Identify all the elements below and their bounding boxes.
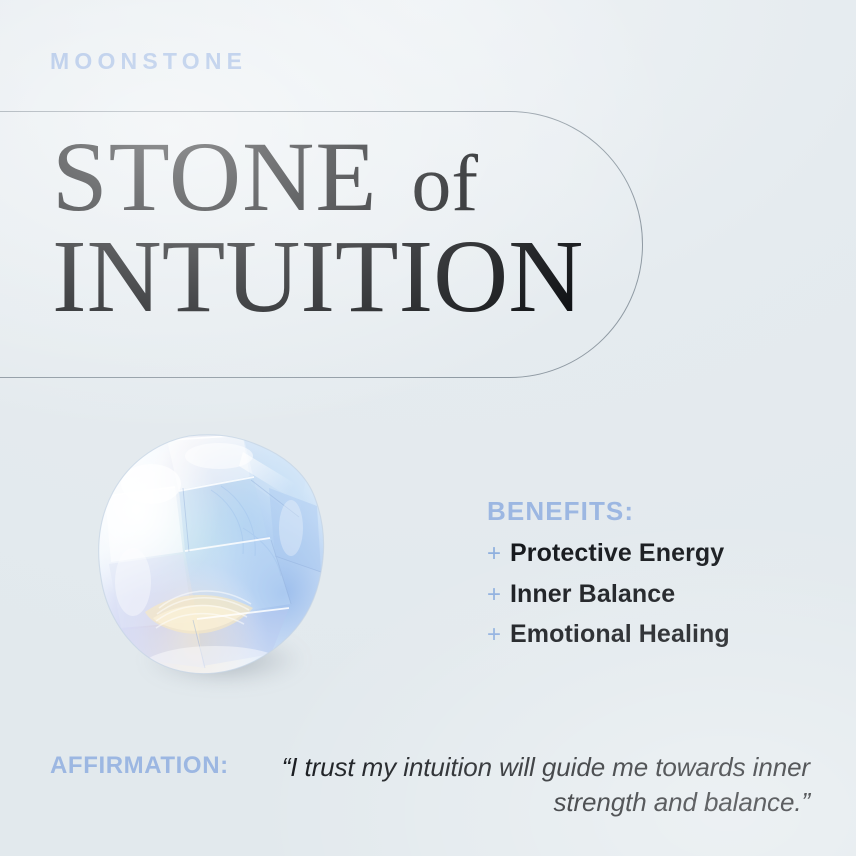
headline-word-stone: STONE [52, 121, 377, 232]
affirmation-section: AFFIRMATION: “I trust my intuition will … [50, 750, 810, 820]
headline-word-of: of [377, 145, 478, 223]
plus-icon: + [487, 583, 510, 607]
benefits-section: BENEFITS: + Protective Energy + Inner Ba… [487, 496, 730, 658]
list-item: + Inner Balance [487, 577, 730, 612]
benefit-label: Protective Energy [510, 536, 724, 571]
moonstone-info-card: MOONSTONE STONEof INTUITION [0, 0, 856, 856]
moonstone-crystal-icon [93, 432, 337, 692]
page-title: STONEof INTUITION [52, 128, 583, 328]
benefits-heading: BENEFITS: [487, 496, 730, 527]
benefit-label: Emotional Healing [510, 617, 730, 652]
plus-icon: + [487, 542, 510, 566]
affirmation-label: AFFIRMATION: [50, 750, 229, 782]
list-item: + Emotional Healing [487, 617, 730, 652]
moonstone-image [93, 432, 337, 692]
benefit-label: Inner Balance [510, 577, 675, 612]
plus-icon: + [487, 623, 510, 647]
list-item: + Protective Energy [487, 536, 730, 571]
category-eyebrow: MOONSTONE [50, 48, 247, 75]
headline-word-intuition: INTUITION [52, 226, 583, 328]
